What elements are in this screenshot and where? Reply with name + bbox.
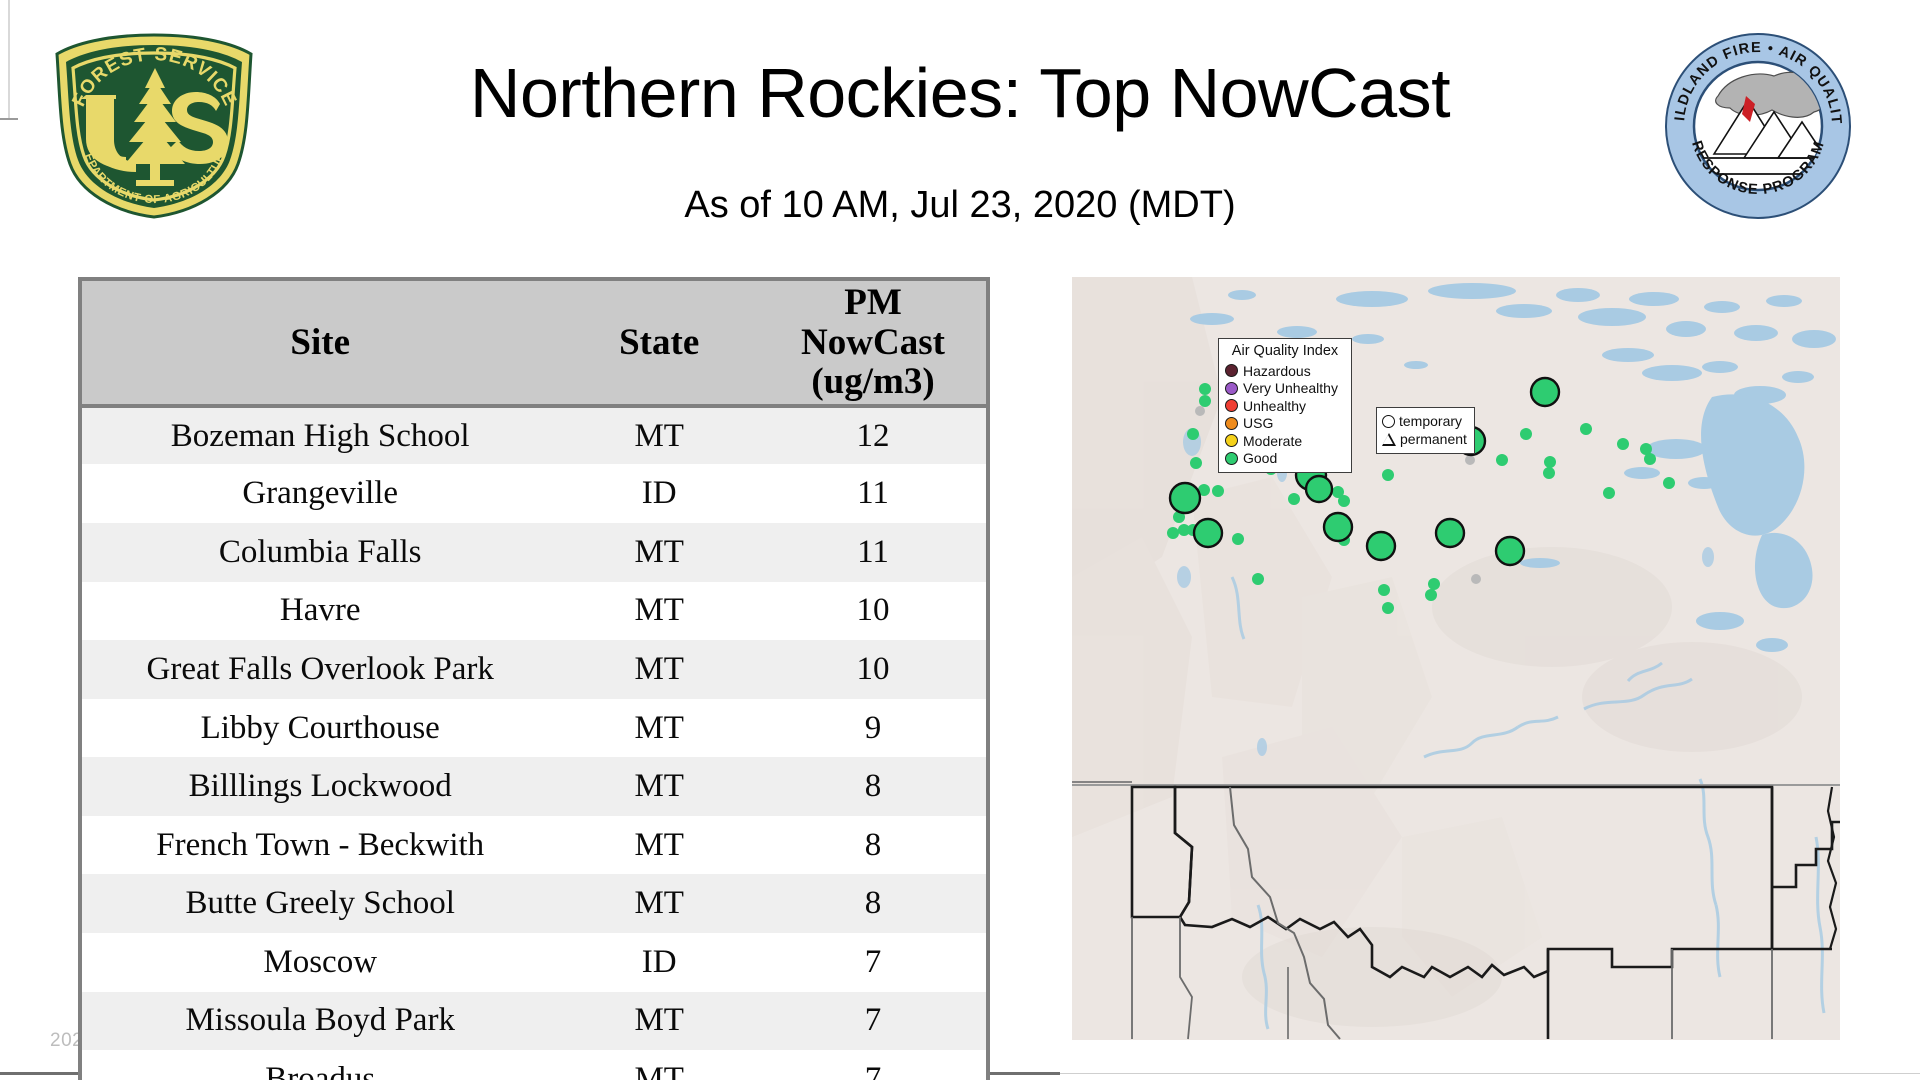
legend-label-very-unhealthy: Very Unhealthy	[1243, 381, 1338, 395]
cell-state: MT	[558, 582, 760, 641]
frame-line-bottom-right	[1060, 1073, 1920, 1074]
circle-icon	[1382, 415, 1395, 428]
cell-site: Butte Greely School	[82, 874, 558, 933]
legend-label-unhealthy: Unhealthy	[1243, 399, 1306, 413]
cell-state: ID	[558, 464, 760, 523]
frame-line-left	[8, 0, 10, 120]
cell-site: Great Falls Overlook Park	[82, 640, 558, 699]
table-header-row: Site State PM NowCast (ug/m3)	[82, 281, 986, 406]
column-header-pm-line2: NowCast	[801, 322, 945, 363]
legend-swatch-unhealthy	[1225, 399, 1238, 412]
legend-label-usg: USG	[1243, 416, 1273, 430]
legend-label-hazardous: Hazardous	[1243, 364, 1311, 378]
page-title: Northern Rockies: Top NowCast	[300, 58, 1620, 128]
legend-swatch-hazardous	[1225, 364, 1238, 377]
nowcast-table: Site State PM NowCast (ug/m3) Bozeman Hi…	[82, 281, 986, 1080]
legend-item-moderate: Moderate	[1225, 432, 1345, 450]
cell-pm: 11	[760, 523, 986, 582]
forest-service-shield-logo: FOREST SERVICE DEPARTMENT OF AGRICULTURE	[52, 32, 257, 220]
cell-site: Columbia Falls	[82, 523, 558, 582]
air-quality-map[interactable]: Air Quality Index Hazardous Very Unhealt…	[1072, 277, 1840, 1040]
cell-state: MT	[558, 406, 760, 465]
cell-site: Broadus	[82, 1050, 558, 1080]
cell-site: Libby Courthouse	[82, 699, 558, 758]
column-header-site: Site	[82, 281, 558, 406]
legend-item-temporary: temporary	[1382, 412, 1467, 430]
table-row: Butte Greely School MT 8	[82, 874, 986, 933]
table-row: Billlings Lockwood MT 8	[82, 757, 986, 816]
cell-pm: 8	[760, 757, 986, 816]
table-row: Havre MT 10	[82, 582, 986, 641]
table-row: Missoula Boyd Park MT 7	[82, 992, 986, 1051]
cell-state: MT	[558, 699, 760, 758]
table-row: French Town - Beckwith MT 8	[82, 816, 986, 875]
table-row: Grangeville ID 11	[82, 464, 986, 523]
cell-state: MT	[558, 874, 760, 933]
cell-site: Billlings Lockwood	[82, 757, 558, 816]
nowcast-table-container: Site State PM NowCast (ug/m3) Bozeman Hi…	[78, 277, 990, 1080]
cell-state: MT	[558, 992, 760, 1051]
cell-pm: 7	[760, 933, 986, 992]
frame-line-top	[0, 118, 18, 120]
cell-pm: 10	[760, 582, 986, 641]
cell-site: Havre	[82, 582, 558, 641]
cell-pm: 7	[760, 1050, 986, 1080]
legend-item-very-unhealthy: Very Unhealthy	[1225, 380, 1345, 398]
triangle-icon	[1382, 433, 1396, 446]
monitor-type-legend: temporary permanent	[1376, 407, 1475, 454]
legend-item-hazardous: Hazardous	[1225, 362, 1345, 380]
table-row: Broadus MT 7	[82, 1050, 986, 1080]
legend-item-permanent: permanent	[1382, 430, 1467, 448]
column-header-pm-nowcast: PM NowCast (ug/m3)	[760, 281, 986, 406]
legend-label-temporary: temporary	[1399, 414, 1462, 428]
table-row: Libby Courthouse MT 9	[82, 699, 986, 758]
cell-state: MT	[558, 816, 760, 875]
cell-site: Grangeville	[82, 464, 558, 523]
cell-site: Missoula Boyd Park	[82, 992, 558, 1051]
legend-swatch-moderate	[1225, 434, 1238, 447]
cell-state: MT	[558, 640, 760, 699]
cell-pm: 8	[760, 816, 986, 875]
column-header-pm-line1: PM	[844, 282, 902, 323]
column-header-state: State	[558, 281, 760, 406]
legend-label-good: Good	[1243, 451, 1277, 465]
wfaqrp-logo: WILDLAND FIRE • AIR QUALITY RESPONSE PRO…	[1662, 30, 1854, 222]
table-row: Bozeman High School MT 12	[82, 406, 986, 465]
legend-title: Air Quality Index	[1225, 343, 1345, 359]
cell-pm: 8	[760, 874, 986, 933]
slide: 202	[0, 0, 1920, 1080]
cell-pm: 10	[760, 640, 986, 699]
cell-site: Moscow	[82, 933, 558, 992]
legend-swatch-very-unhealthy	[1225, 382, 1238, 395]
legend-item-usg: USG	[1225, 415, 1345, 433]
table-row: Moscow ID 7	[82, 933, 986, 992]
cell-pm: 7	[760, 992, 986, 1051]
cell-site: French Town - Beckwith	[82, 816, 558, 875]
legend-swatch-good	[1225, 452, 1238, 465]
legend-label-moderate: Moderate	[1243, 434, 1302, 448]
column-header-site-line1: Site	[290, 322, 350, 363]
table-row: Great Falls Overlook Park MT 10	[82, 640, 986, 699]
cell-state: ID	[558, 933, 760, 992]
cell-state: MT	[558, 757, 760, 816]
cell-state: MT	[558, 523, 760, 582]
air-quality-index-legend: Air Quality Index Hazardous Very Unhealt…	[1218, 338, 1352, 473]
column-header-pm-line3: (ug/m3)	[811, 361, 934, 402]
cell-pm: 9	[760, 699, 986, 758]
legend-item-unhealthy: Unhealthy	[1225, 397, 1345, 415]
cell-state: MT	[558, 1050, 760, 1080]
column-header-state-line1: State	[619, 322, 699, 363]
cell-site: Bozeman High School	[82, 406, 558, 465]
legend-swatch-usg	[1225, 417, 1238, 430]
cell-pm: 11	[760, 464, 986, 523]
legend-item-good: Good	[1225, 450, 1345, 468]
page-subtitle: As of 10 AM, Jul 23, 2020 (MDT)	[300, 186, 1620, 224]
table-row: Columbia Falls MT 11	[82, 523, 986, 582]
cell-pm: 12	[760, 406, 986, 465]
legend-label-permanent: permanent	[1400, 432, 1467, 446]
